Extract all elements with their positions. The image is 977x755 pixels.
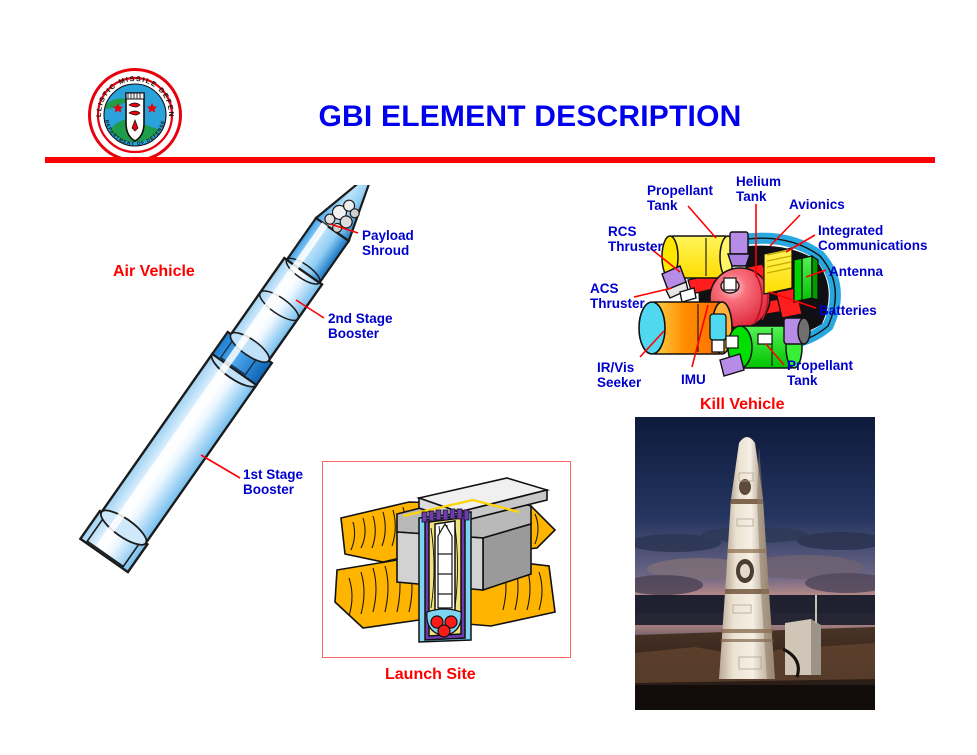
section-label-air-vehicle: Air Vehicle bbox=[113, 263, 195, 281]
ballistic-missile-defense-seal-icon: BALLISTIC MISSILE DEFENSE DEPARTMENT OF … bbox=[88, 68, 182, 162]
slide-canvas: BALLISTIC MISSILE DEFENSE DEPARTMENT OF … bbox=[0, 0, 977, 755]
callout-second-stage-booster: 2nd Stage Booster bbox=[328, 311, 393, 341]
callout-payload-shroud: Payload Shroud bbox=[362, 228, 414, 258]
callout-batteries: Batteries bbox=[819, 303, 877, 318]
launch-site-frame bbox=[322, 461, 571, 658]
callout-integrated-communications: Integrated Communications bbox=[818, 223, 928, 253]
callout-antenna: Antenna bbox=[829, 264, 883, 279]
callout-acs-thruster: ACS Thruster bbox=[590, 281, 645, 311]
section-label-launch-site: Launch Site bbox=[385, 666, 476, 684]
callout-ir-vis-seeker: IR/Vis Seeker bbox=[597, 360, 641, 390]
callout-rcs-thruster: RCS Thruster bbox=[608, 224, 663, 254]
callout-propellant-tank-lower: Propellant Tank bbox=[787, 358, 853, 388]
callout-propellant-tank-upper: Propellant Tank bbox=[647, 183, 713, 213]
page-title: GBI ELEMENT DESCRIPTION bbox=[250, 100, 810, 134]
title-divider-rule bbox=[45, 157, 935, 163]
callout-first-stage-booster: 1st Stage Booster bbox=[243, 467, 303, 497]
section-label-kill-vehicle: Kill Vehicle bbox=[700, 396, 784, 414]
callout-imu: IMU bbox=[681, 372, 706, 387]
launch-silo-illustration bbox=[323, 462, 570, 657]
callout-avionics: Avionics bbox=[789, 197, 845, 212]
interceptor-photo bbox=[635, 417, 875, 710]
callout-helium-tank: Helium Tank bbox=[736, 174, 781, 204]
interceptor-photo-canvas bbox=[635, 417, 875, 710]
